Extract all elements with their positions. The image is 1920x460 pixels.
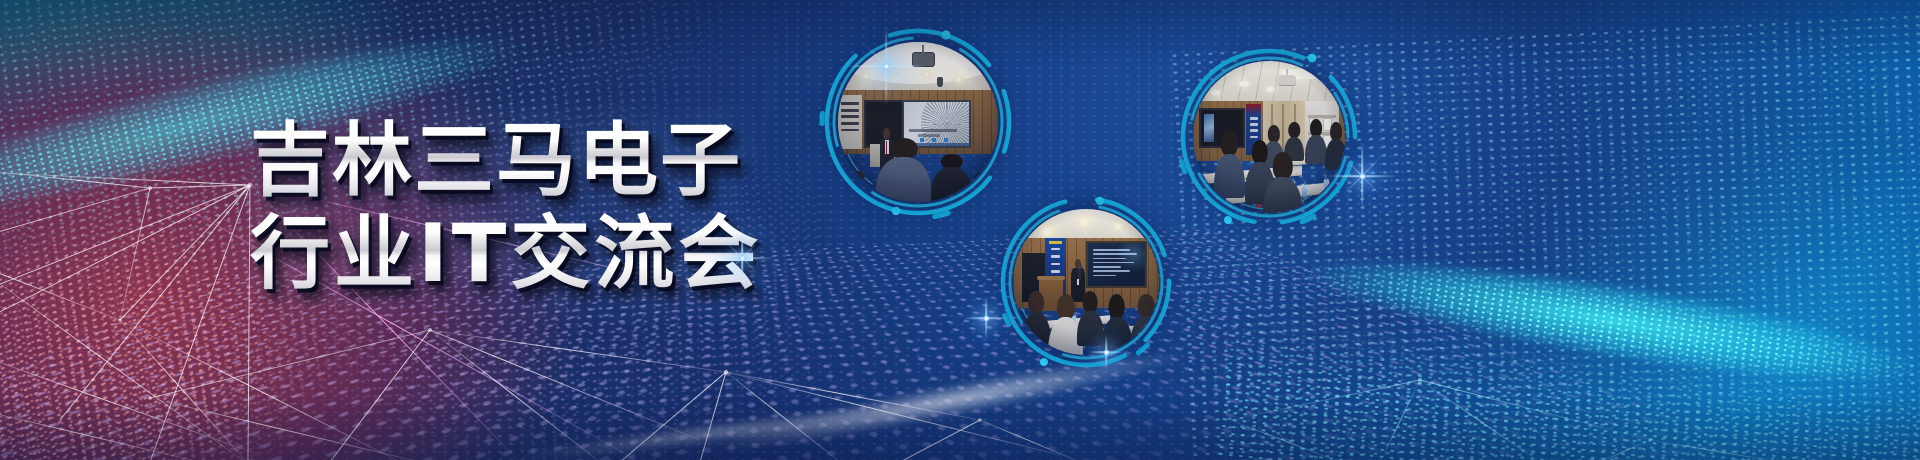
photo-image-conference-hall — [838, 42, 998, 202]
photo-circle-training-room-attendees[interactable] — [1180, 48, 1358, 226]
photo-circle-speaker-with-microphone[interactable] — [1000, 196, 1172, 368]
page-title-line-1: 吉林三马电子 — [250, 118, 830, 204]
photo-image-speaker-mic — [1013, 209, 1159, 355]
photo-circle-conference-hall-presentation[interactable] — [824, 28, 1012, 216]
promo-banner: 吉林三马电子 行业IT交流会 — [0, 0, 1920, 460]
banner-title: 吉林三马电子 行业IT交流会 — [250, 118, 830, 298]
photo-image-training-room — [1193, 61, 1345, 213]
page-title-line-2: 行业IT交流会 — [250, 210, 830, 298]
